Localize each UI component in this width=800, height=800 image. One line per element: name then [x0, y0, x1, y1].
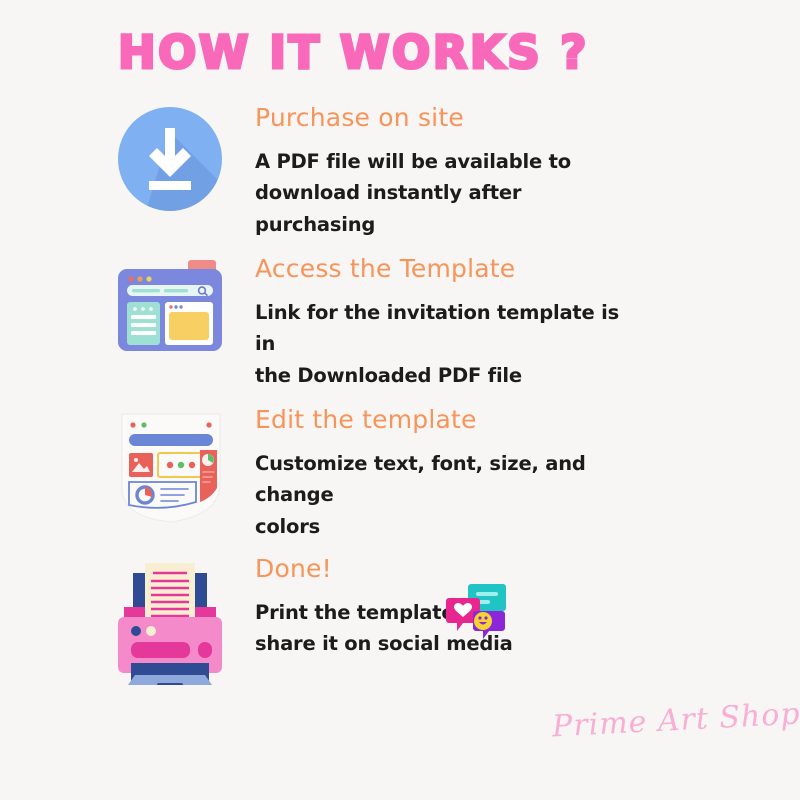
watermark-prime-art-shop: Prime Art Shop: [551, 697, 800, 745]
step-body: A PDF file will be available to download…: [255, 146, 635, 241]
step-item-purchase: Purchase on site A PDF file will be avai…: [95, 104, 635, 240]
browser-window-icon: [95, 255, 245, 365]
step-body-line: colors: [255, 511, 635, 543]
web-page-edit-icon: [95, 406, 245, 531]
step-text-purchase: Purchase on site A PDF file will be avai…: [245, 104, 635, 240]
step-text-edit-template: Edit the template Customize text, font, …: [245, 406, 635, 542]
step-body: Customize text, font, size, and change c…: [255, 448, 635, 543]
step-item-done: Done! Print the template or share it on …: [95, 555, 513, 685]
step-body-line: download instantly after purchasing: [255, 177, 635, 240]
step-body: Link for the invitation template is in t…: [255, 297, 635, 392]
step-body-line: the Downloaded PDF file: [255, 360, 635, 392]
infographic-canvas: HOW IT WORKS ? Purchase on site: [0, 0, 800, 800]
download-circle-icon: [95, 104, 245, 214]
page-title: HOW IT WORKS ?: [118, 26, 589, 79]
step-heading: Access the Template: [255, 255, 635, 283]
printer-icon: [95, 555, 245, 685]
step-text-access-template: Access the Template Link for the invitat…: [245, 255, 635, 391]
step-item-edit-template: Edit the template Customize text, font, …: [95, 406, 635, 542]
step-text-done: Done! Print the template or share it on …: [245, 555, 513, 660]
step-item-access-template: Access the Template Link for the invitat…: [95, 255, 635, 391]
step-heading: Edit the template: [255, 406, 635, 434]
step-body-line: Customize text, font, size, and change: [255, 448, 635, 511]
step-body-line: Link for the invitation template is in: [255, 297, 635, 360]
step-heading: Purchase on site: [255, 104, 635, 132]
step-body-line: A PDF file will be available to: [255, 146, 635, 178]
step-heading: Done!: [255, 555, 513, 583]
social-media-bubbles-icon: [445, 582, 507, 644]
